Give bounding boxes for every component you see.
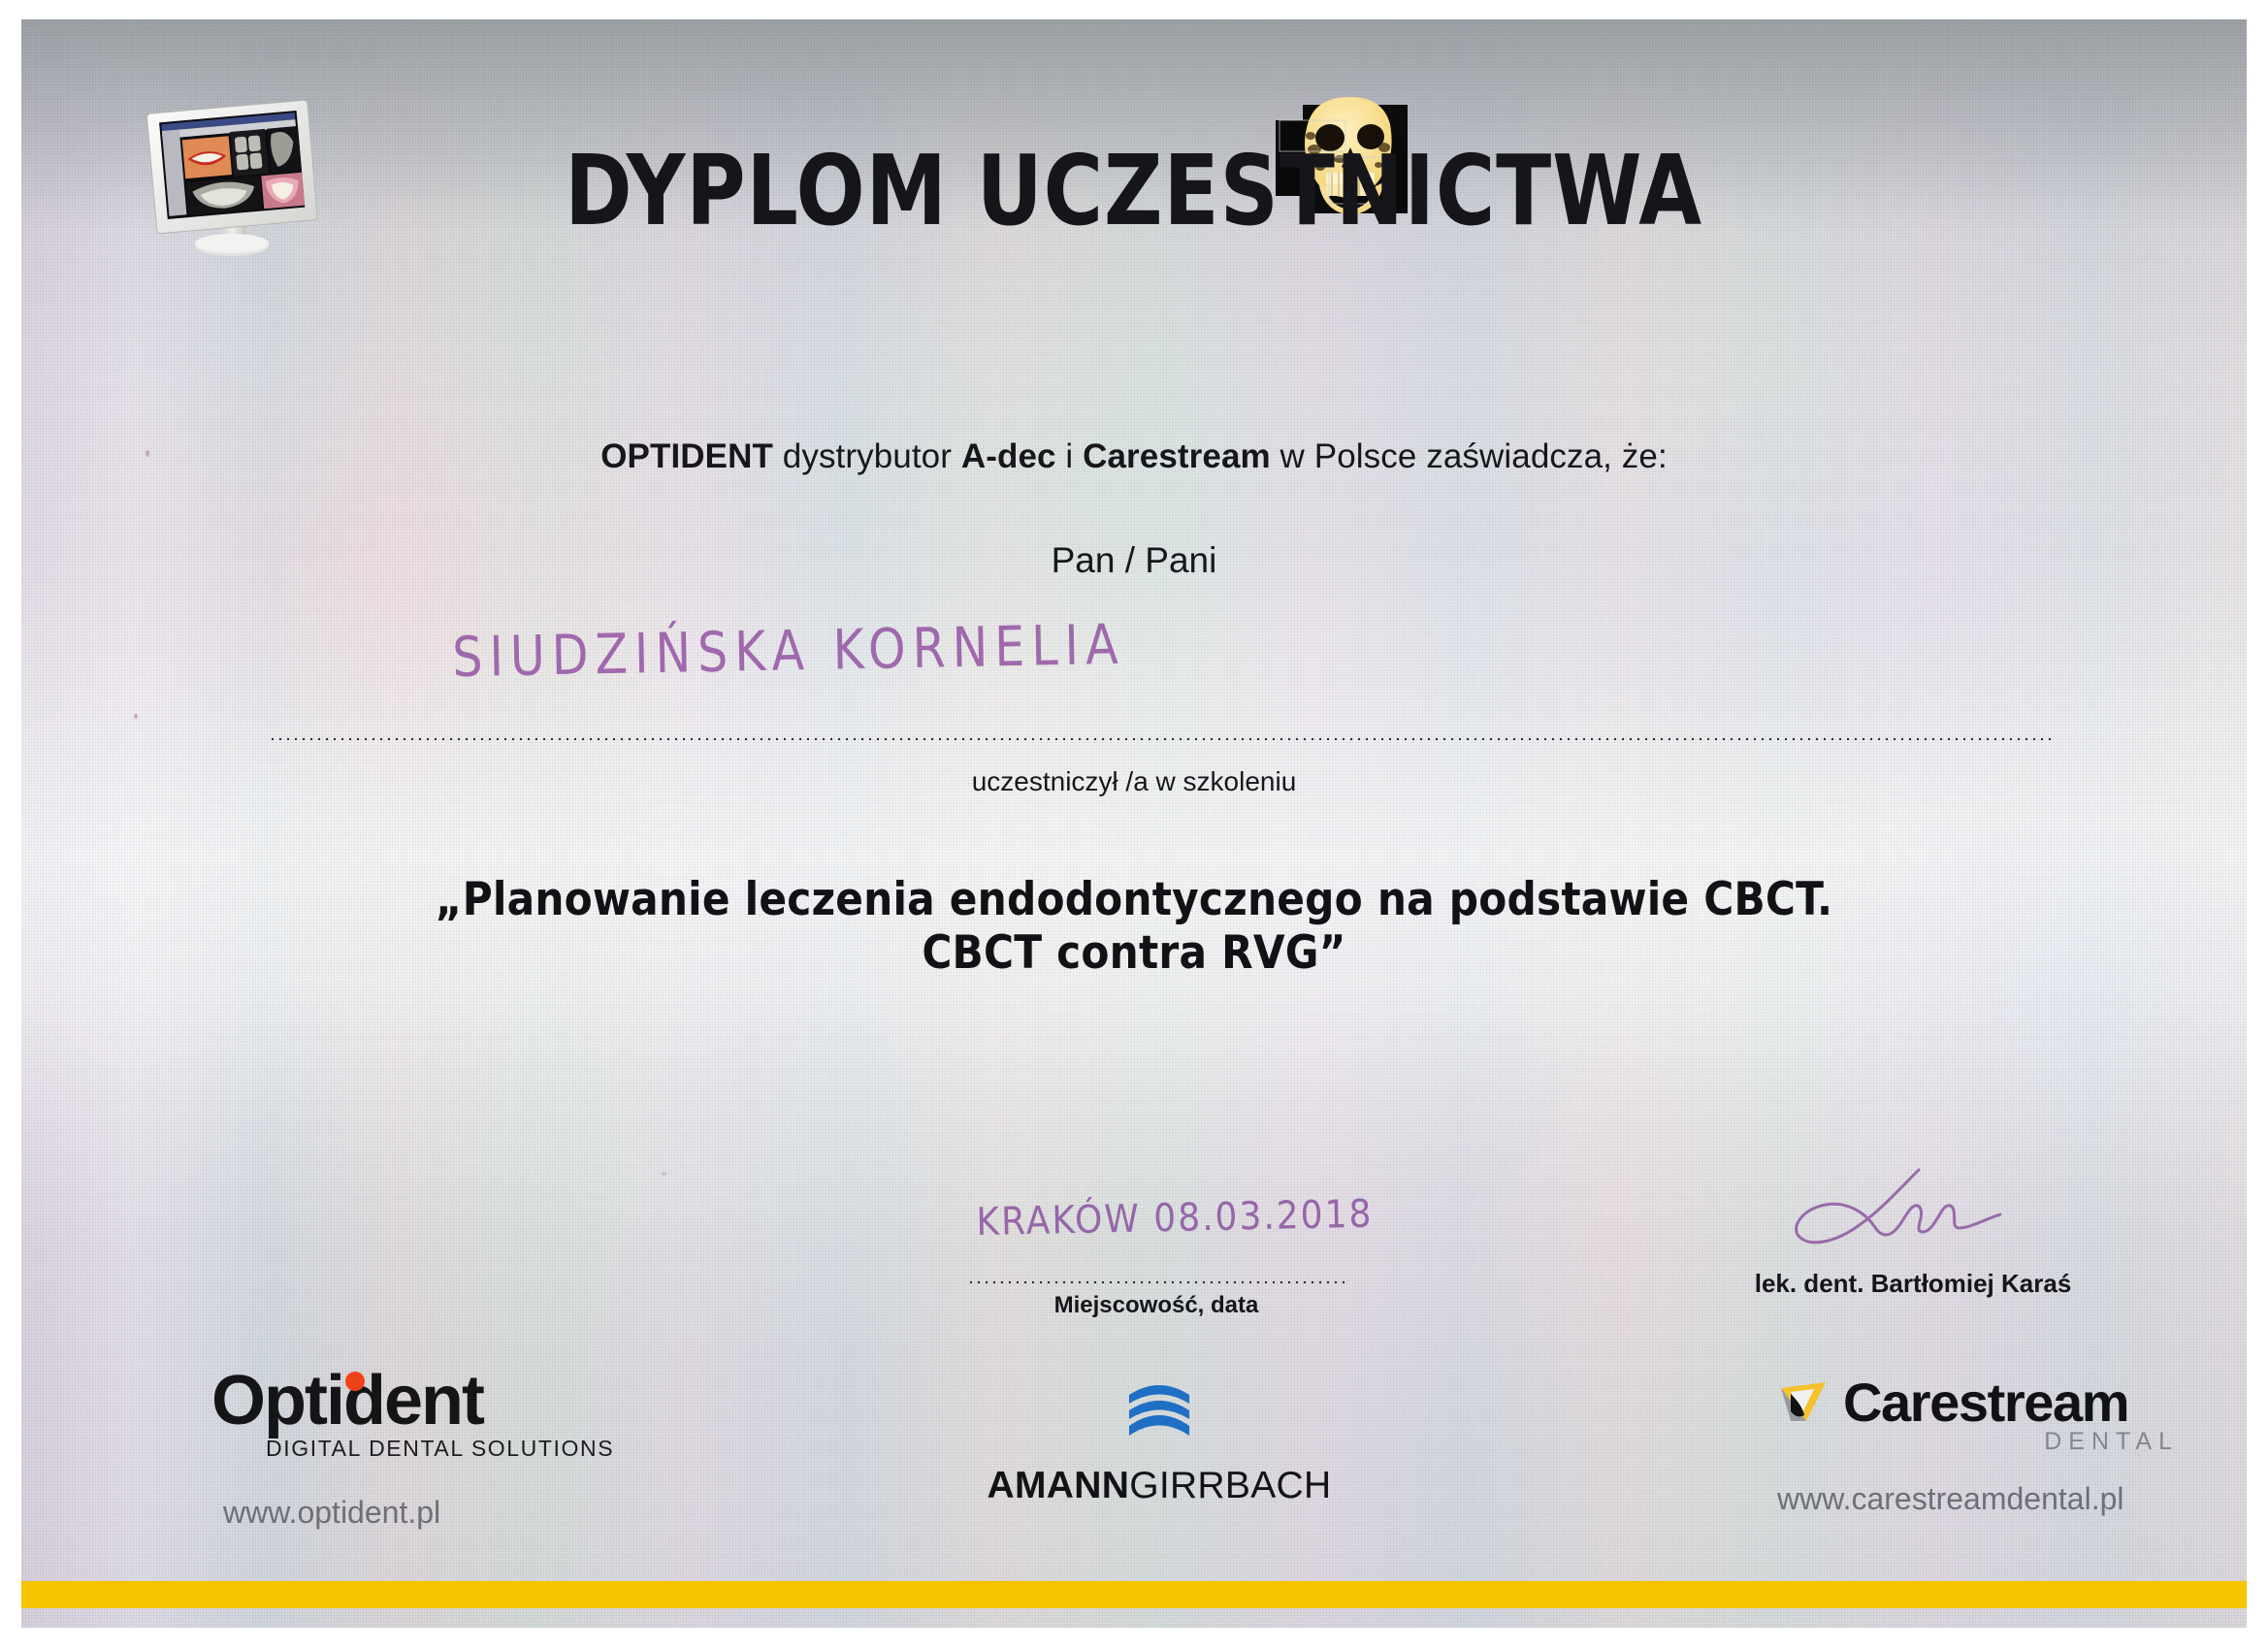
amann-bold-part: AMANN (988, 1465, 1130, 1506)
carestream-row: Carestream (1777, 1375, 2185, 1430)
scan-speck (134, 714, 138, 719)
place-date-label: Miejscowość, data (967, 1292, 1345, 1319)
carestream-mark-icon (1777, 1378, 1831, 1427)
recipient-name-handwritten: SIUDZIŃSKA KORNELIA (452, 607, 1423, 690)
brand-carestream: Carestream (1083, 437, 1271, 475)
scan-speck (662, 1172, 666, 1176)
issuer-statement: OPTIDENT dystrybutor A-dec i Carestream … (21, 437, 2247, 476)
recipient-name-field: SIUDZIŃSKA KORNELIA (269, 640, 2054, 747)
optident-tagline: DIGITAL DENTAL SOLUTIONS (211, 1436, 619, 1462)
page-title: DYPLOM UCZESTNICTWA (21, 134, 2247, 247)
course-title: „Planowanie leczenia endodontycznego na … (196, 873, 2072, 981)
carestream-logo: Carestream DENTAL www.carestreamdental.p… (1777, 1375, 2185, 1517)
optident-wordmark-container: Optident (211, 1368, 483, 1434)
scan-speck (146, 450, 149, 457)
course-title-line-1: „Planowanie leczenia endodontycznego na … (196, 873, 2072, 926)
optident-url: www.optident.pl (211, 1495, 619, 1531)
amanngirrbach-wordmark: AMANNGIRRBACH (951, 1465, 1368, 1507)
place-date-handwritten: KRAKÓW 08.03.2018 (976, 1193, 1365, 1245)
optident-logo: Optident DIGITAL DENTAL SOLUTIONS www.op… (211, 1368, 619, 1531)
certificate-sheet: DYPLOM UCZESTNICTWA OPTIDENT dystrybutor… (21, 19, 2247, 1628)
carestream-wordmark: Carestream (1843, 1375, 2128, 1430)
place-date-dotted-line (967, 1280, 1345, 1284)
amanngirrbach-arcs-icon (1125, 1377, 1193, 1436)
course-title-line-2: CBCT contra RVG” (196, 926, 2072, 980)
signer-name: lek. dent. Bartłomiej Karaś (1670, 1269, 2155, 1299)
optident-dot-icon (345, 1372, 365, 1391)
brand-adec: A-dec (961, 437, 1056, 475)
issuer-statement-suffix: w Polsce zaświadcza, że: (1271, 437, 1668, 475)
amanngirrbach-logo: AMANNGIRRBACH (951, 1377, 1368, 1507)
footer-accent-bar (21, 1581, 2247, 1608)
carestream-url: www.carestreamdental.pl (1777, 1481, 2185, 1517)
recipient-name-dotted-line (269, 737, 2054, 741)
signature-icon (1729, 1164, 2058, 1256)
salutation-label: Pan / Pani (21, 540, 2247, 581)
issuer-name: OPTIDENT (600, 437, 773, 475)
issuer-statement-mid2: i (1056, 437, 1084, 475)
girrbach-light-part: GIRRBACH (1129, 1465, 1331, 1506)
page-title-text: DYPLOM UCZESTNICTWA (566, 134, 1703, 247)
participation-label: uczestniczył /a w szkoleniu (21, 766, 2247, 797)
issuer-statement-mid1: dystrybutor (773, 437, 961, 475)
